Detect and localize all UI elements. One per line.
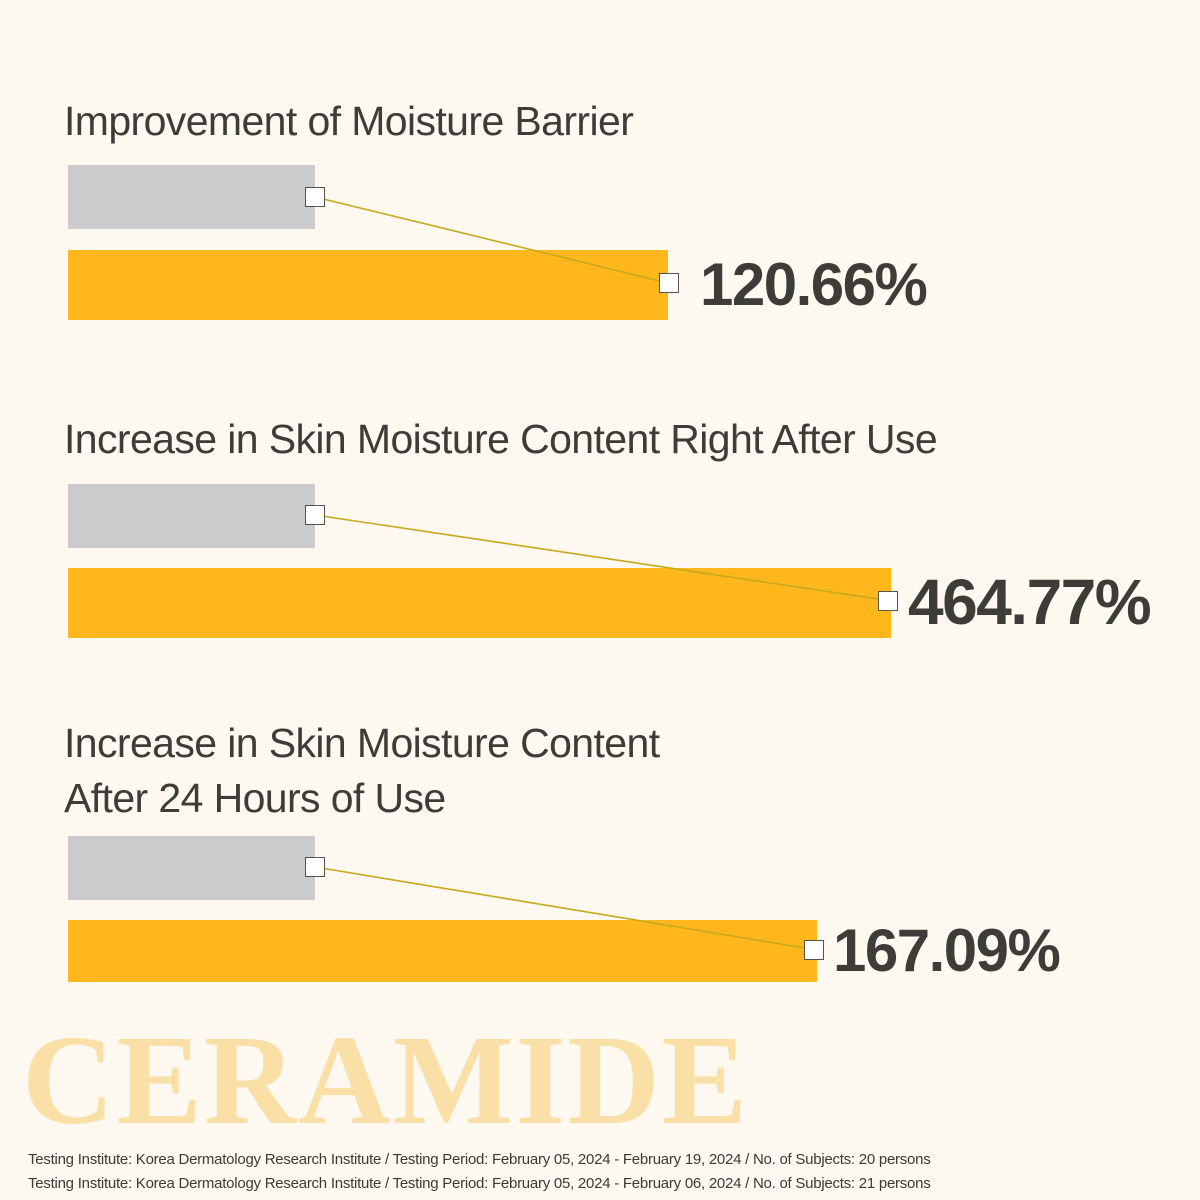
- value-bar-2: [68, 568, 891, 638]
- value-label-2: 464.77%: [908, 572, 1150, 632]
- baseline-bar-1: [68, 165, 315, 229]
- footnotes-block: Testing Institute: Korea Dermatology Res…: [28, 1148, 1178, 1196]
- value-label-1: 120.66%: [700, 255, 926, 315]
- baseline-node-3: [305, 857, 325, 877]
- value-bar-3: [68, 920, 817, 982]
- value-node-3: [804, 940, 824, 960]
- value-bar-1: [68, 250, 668, 320]
- footnote-line-1: Testing Institute: Korea Dermatology Res…: [28, 1148, 1178, 1172]
- infographic-canvas: Improvement of Moisture Barrier 120.66% …: [0, 0, 1200, 1200]
- baseline-bar-2: [68, 484, 315, 548]
- metric-section-3: Increase in Skin Moisture Content After …: [0, 700, 1200, 1020]
- value-node-1: [659, 273, 679, 293]
- ceramide-wordmark: CERAMIDE: [22, 1020, 749, 1140]
- metric-section-2: Increase in Skin Moisture Content Right …: [0, 380, 1200, 700]
- value-node-2: [878, 591, 898, 611]
- footnote-line-2: Testing Institute: Korea Dermatology Res…: [28, 1172, 1178, 1196]
- baseline-node-1: [305, 187, 325, 207]
- metric-section-1: Improvement of Moisture Barrier 120.66%: [0, 0, 1200, 380]
- baseline-bar-3: [68, 836, 315, 900]
- value-label-3: 167.09%: [833, 921, 1059, 981]
- section-title-1: Improvement of Moisture Barrier: [64, 94, 633, 149]
- section-title-3: Increase in Skin Moisture Content After …: [64, 716, 660, 826]
- section-title-2: Increase in Skin Moisture Content Right …: [64, 412, 937, 467]
- baseline-node-2: [305, 505, 325, 525]
